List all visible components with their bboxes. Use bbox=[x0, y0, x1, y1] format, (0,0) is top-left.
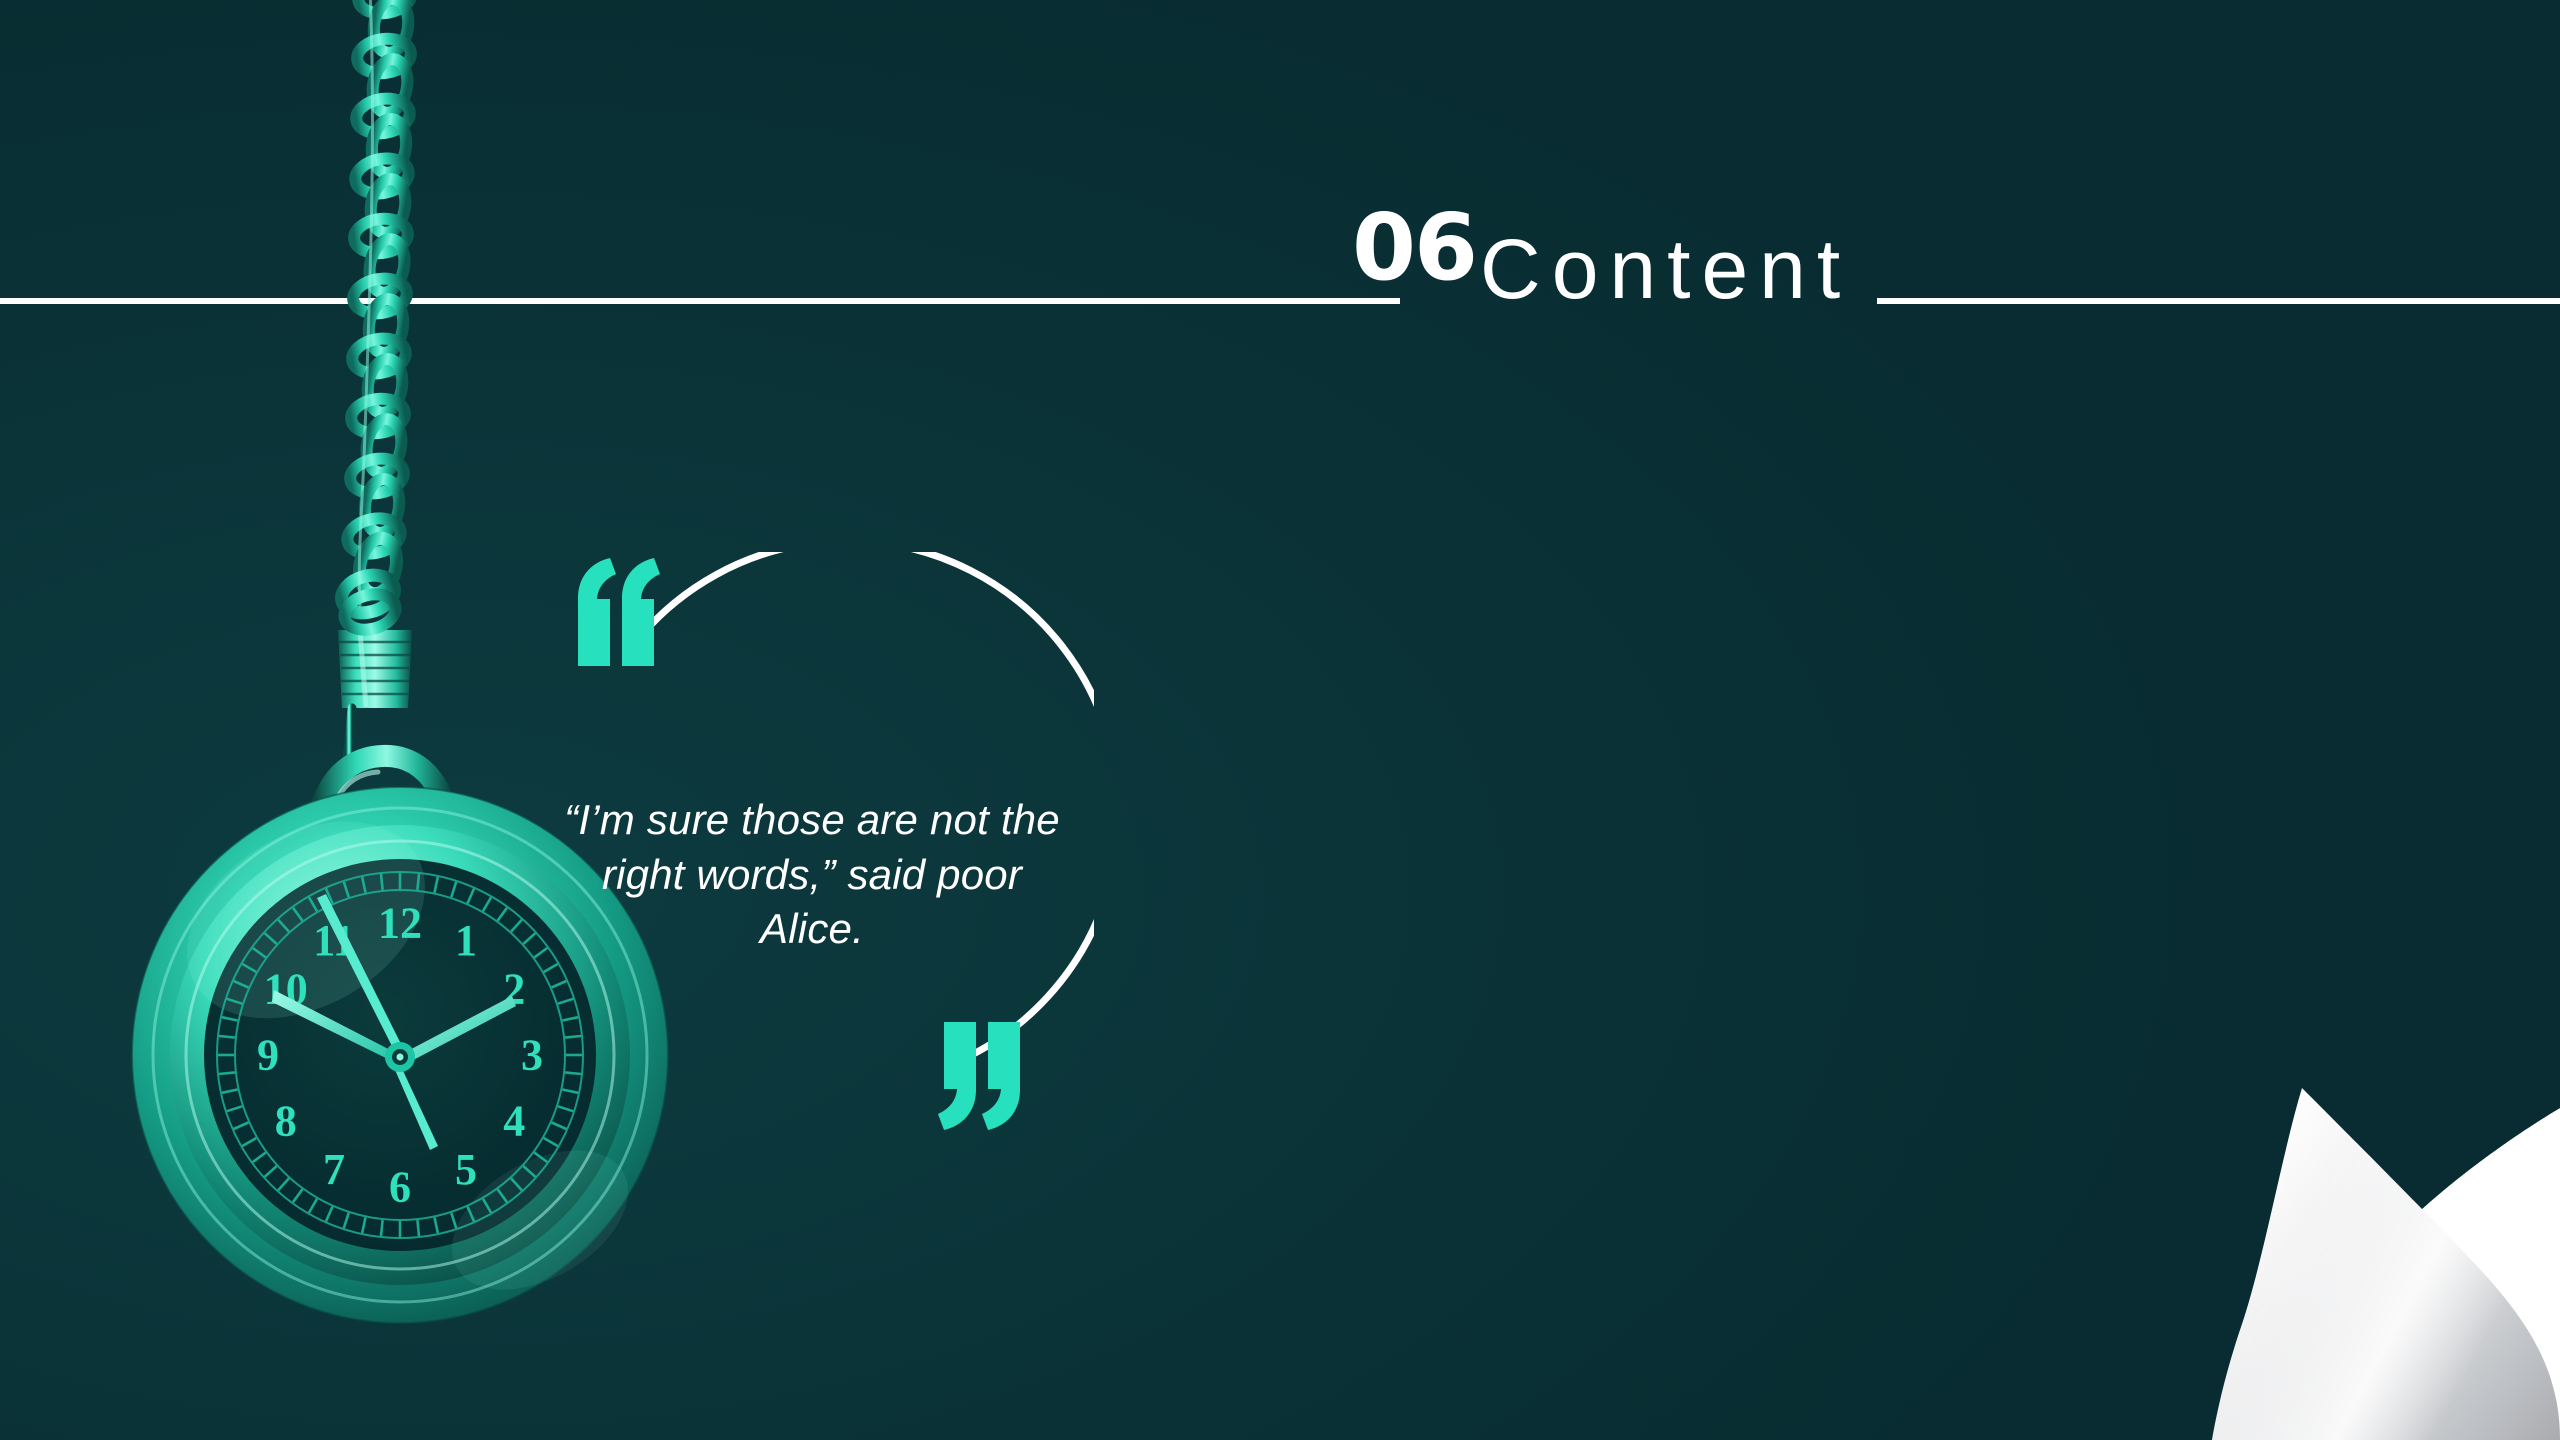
section-number: 06 bbox=[1352, 208, 1476, 289]
section-title: Content bbox=[1480, 227, 1851, 311]
page-title: 06 Content bbox=[1352, 175, 1851, 315]
quote-text: “I’m sure those are not the right words,… bbox=[552, 793, 1072, 957]
slide-canvas: 123456789101112 “I’m sure tho bbox=[0, 0, 2560, 1440]
title-rule-left bbox=[0, 298, 1400, 304]
quote-line-1: “I’m sure those are not the bbox=[552, 793, 1072, 848]
quote-line-2: right words,” said poor Alice. bbox=[552, 848, 1072, 957]
slide-background-gradient bbox=[0, 0, 2560, 1440]
title-rule-right bbox=[1877, 298, 2560, 304]
slide-background bbox=[0, 0, 2560, 1440]
